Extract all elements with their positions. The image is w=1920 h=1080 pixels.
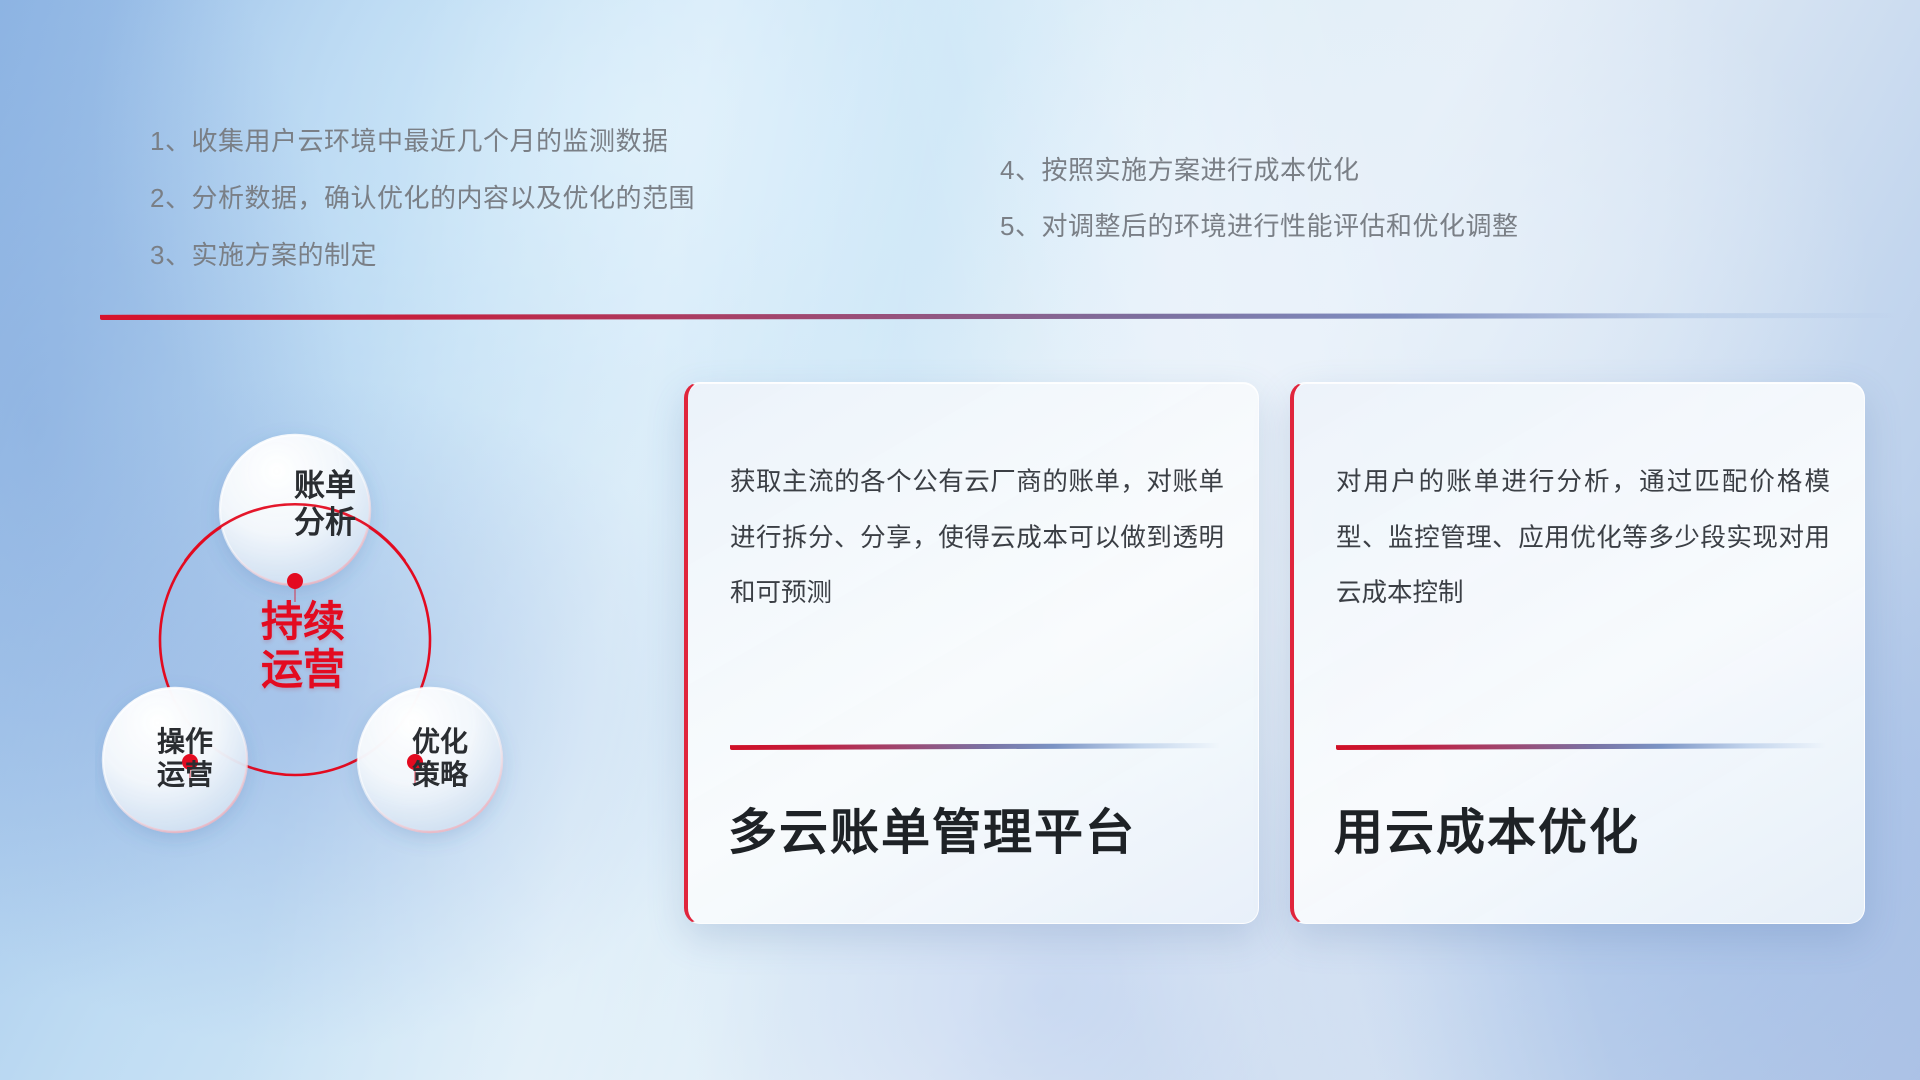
card-body-text: 对用户的账单进行分析，通过匹配价格模型、监控管理、应用优化等多少段实现对用云成本… xyxy=(1336,455,1830,622)
card-title: 多云账单管理平台 xyxy=(728,793,1228,864)
diagram-label-optimization-strategy: 优化 策略 xyxy=(360,725,520,791)
continuous-operation-diagram: 账单 分析 操作 运营 优化 策略 持续 运营 xyxy=(95,340,565,940)
step-item-4: 4、按照实施方案进行成本优化 xyxy=(1000,150,1359,187)
diagram-label-operation-ops: 操作 运营 xyxy=(105,725,265,791)
steps-list: 1、收集用户云环境中最近几个月的监测数据 2、分析数据，确认优化的内容以及优化的… xyxy=(0,0,1920,260)
card-cloud-cost-optimization[interactable]: 对用户的账单进行分析，通过匹配价格模型、监控管理、应用优化等多少段实现对用云成本… xyxy=(1290,382,1865,924)
card-title: 用云成本优化 xyxy=(1334,793,1834,864)
card-divider xyxy=(730,743,1220,750)
card-divider xyxy=(1336,743,1826,750)
diagram-label-bill-analysis: 账单 分析 xyxy=(245,468,405,541)
step-item-5: 5、对调整后的环境进行性能评估和优化调整 xyxy=(1000,206,1518,243)
card-multi-cloud-bill-platform[interactable]: 获取主流的各个公有云厂商的账单，对账单进行拆分、分享，使得云成本可以做到透明和可… xyxy=(684,382,1259,924)
step-item-3: 3、实施方案的制定 xyxy=(150,235,377,272)
step-item-1: 1、收集用户云环境中最近几个月的监测数据 xyxy=(150,121,668,158)
step-item-2: 2、分析数据，确认优化的内容以及优化的范围 xyxy=(150,178,695,215)
diagram-center-label: 持续 运营 xyxy=(208,598,398,695)
card-body-text: 获取主流的各个公有云厂商的账单，对账单进行拆分、分享，使得云成本可以做到透明和可… xyxy=(730,455,1224,622)
